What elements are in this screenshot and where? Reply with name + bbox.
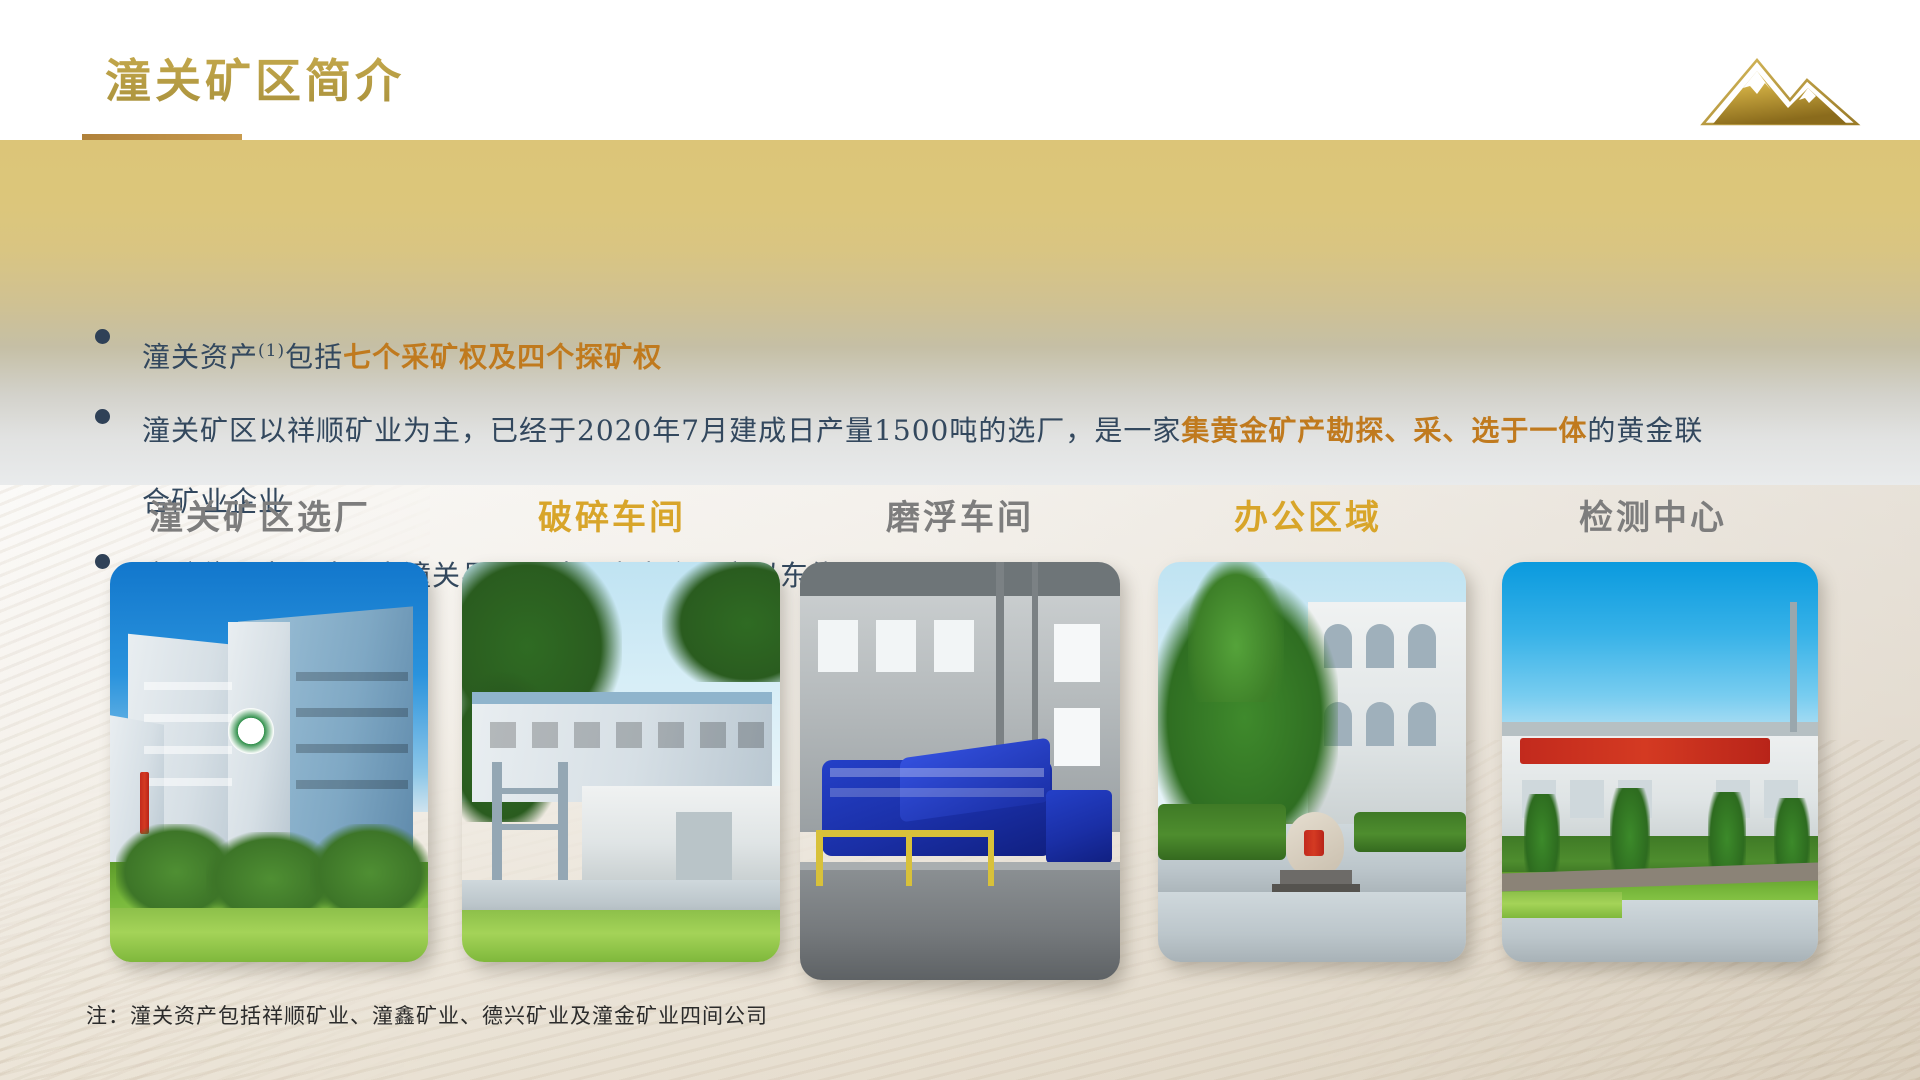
gallery-caption-2: 破碎车间: [452, 490, 772, 539]
slide-root: 潼关矿区简介: [0, 0, 1920, 1080]
bullet-text-1: 潼关资产(1)包括七个采矿权及四个探矿权: [142, 315, 662, 393]
bullet-item-1: 潼关资产(1)包括七个采矿权及四个探矿权: [95, 315, 1880, 393]
photo-crushing-workshop[interactable]: [462, 562, 780, 962]
slide-header: 潼关矿区简介: [0, 0, 1920, 140]
bullet-item-2: 潼关矿区以祥顺矿业为主，已经于2020年7月建成日产量1500吨的选厂，是一家集…: [95, 395, 1880, 467]
page-title: 潼关矿区简介: [105, 45, 405, 111]
gallery-caption-5: 检测中心: [1488, 490, 1818, 539]
photo-gallery: 潼关矿区选厂: [0, 490, 1920, 980]
gallery-caption-4: 办公区域: [1148, 490, 1468, 539]
photo-grinding-flotation-workshop[interactable]: [800, 562, 1120, 980]
mountain-logo-icon: [1695, 50, 1865, 128]
gallery-caption-1: 潼关矿区选厂: [100, 490, 420, 539]
photo-office-area[interactable]: [1158, 562, 1466, 962]
photo-testing-center[interactable]: [1502, 562, 1818, 962]
bullet-list: 潼关资产(1)包括七个采矿权及四个探矿权 潼关矿区以祥顺矿业为主，已经于2020…: [0, 140, 1920, 485]
bullet-dot-icon: [95, 329, 110, 344]
bullet-text-2: 潼关矿区以祥顺矿业为主，已经于2020年7月建成日产量1500吨的选厂，是一家集…: [142, 395, 1703, 467]
gallery-caption-3: 磨浮车间: [790, 490, 1130, 539]
bullet-dot-icon: [95, 409, 110, 424]
footnote-text: 注：潼关资产包括祥顺矿业、潼鑫矿业、德兴矿业及潼金矿业四间公司: [86, 1000, 768, 1030]
photo-processing-plant[interactable]: [110, 562, 428, 962]
